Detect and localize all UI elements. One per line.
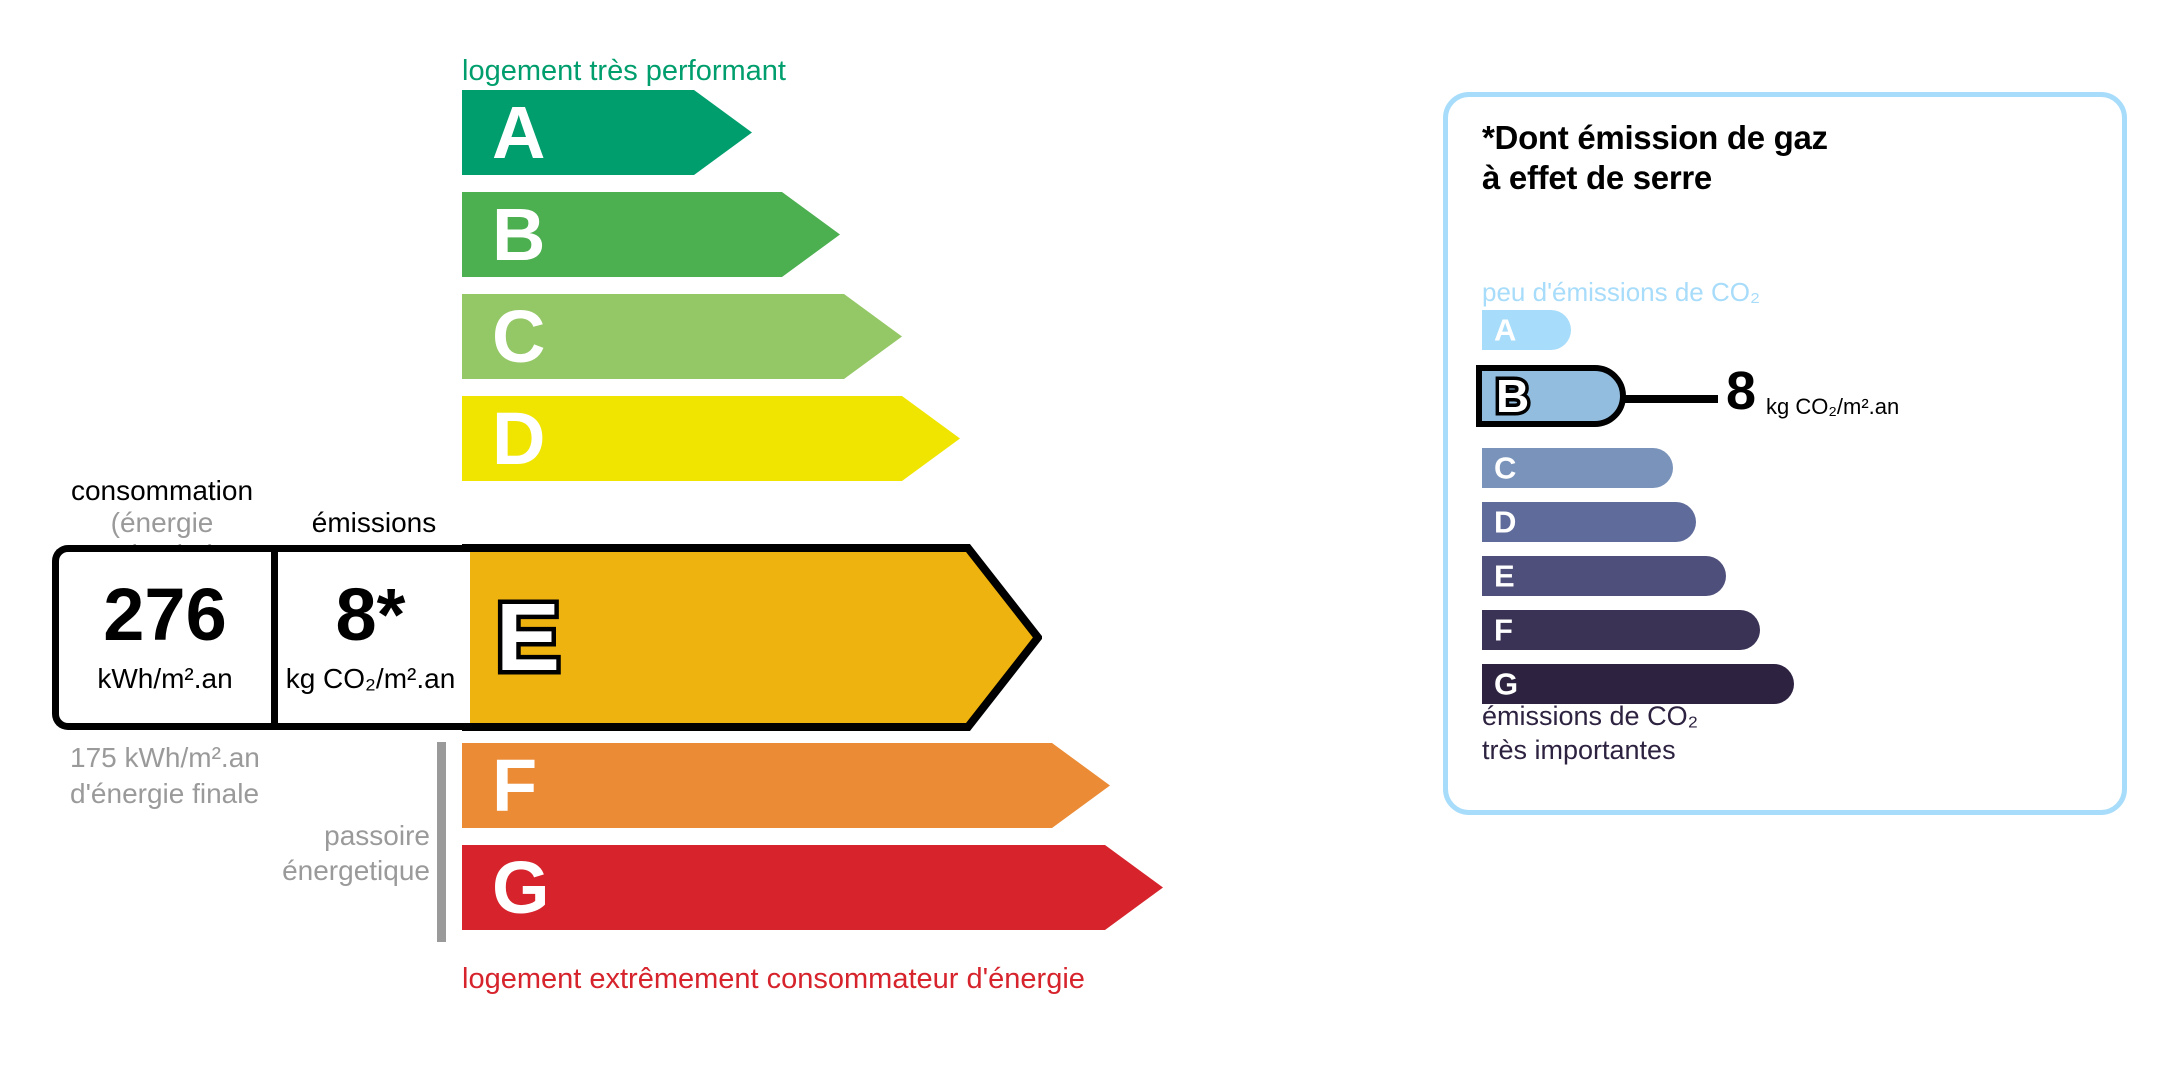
energy-class-row-G: G — [462, 845, 1163, 930]
emissions-value-cell: 8* kg CO₂/m².an — [271, 552, 470, 723]
energy-class-letter-D: D — [492, 402, 545, 476]
energy-class-arrow-D: D — [462, 396, 960, 481]
energy-class-arrow-G: G — [462, 845, 1163, 930]
co2-class-bar-A: A — [1482, 310, 1571, 350]
energy-class-arrow-B: B — [462, 192, 840, 277]
energy-class-arrow-A: A — [462, 90, 752, 175]
value-box: 276 kWh/m².an 8* kg CO₂/m².an — [52, 545, 470, 730]
co2-class-bar-D: D — [1482, 502, 1696, 542]
co2-class-bar-F: F — [1482, 610, 1760, 650]
energy-class-letter-B: B — [492, 198, 545, 272]
co2-class-letter-B: B — [1496, 373, 1529, 419]
energy-class-row-F: F — [462, 743, 1110, 828]
co2-value-unit: kg CO₂/m².an — [1766, 396, 1899, 418]
co2-class-letter-F: F — [1494, 615, 1513, 646]
consumption-value-cell: 276 kWh/m².an — [59, 552, 271, 723]
energy-class-arrow-C: C — [462, 294, 902, 379]
co2-bottom-caption: émissions de CO₂très importantes — [1482, 700, 1698, 768]
energy-class-row-E: E — [462, 544, 1042, 731]
co2-class-bar-B: B — [1476, 365, 1626, 427]
energy-class-letter-F: F — [492, 749, 537, 823]
energy-class-letter-E: E — [496, 590, 560, 686]
energy-performance-diagram: logement très performant ABCDFG E logeme… — [0, 0, 1340, 1079]
co2-top-caption: peu d'émissions de CO₂ — [1482, 277, 1760, 308]
energy-class-row-D: D — [462, 396, 960, 481]
co2-class-letter-E: E — [1494, 561, 1515, 592]
passoire-energetique-bar — [437, 742, 446, 942]
emissions-label: émissions — [278, 507, 470, 539]
energy-top-caption: logement très performant — [462, 55, 786, 88]
energy-bottom-caption: logement extrêmement consommateur d'éner… — [462, 963, 1085, 996]
energy-class-arrow-F: F — [462, 743, 1110, 828]
co2-class-letter-C: C — [1494, 453, 1516, 484]
emissions-value: 8* — [271, 578, 470, 652]
co2-value: 8 — [1726, 364, 1756, 418]
co2-class-bar-C: C — [1482, 448, 1673, 488]
energy-class-letter-A: A — [492, 96, 545, 170]
energy-class-row-C: C — [462, 294, 902, 379]
energy-class-row-A: A — [462, 90, 752, 175]
emissions-unit: kg CO₂/m².an — [271, 664, 470, 695]
consumption-unit: kWh/m².an — [59, 664, 271, 695]
final-energy-label: 175 kWh/m².and'énergie finale — [70, 740, 260, 813]
energy-class-letter-G: G — [492, 851, 550, 925]
co2-leader-line — [1621, 395, 1718, 403]
energy-class-row-B: B — [462, 192, 840, 277]
consumption-value: 276 — [59, 578, 271, 652]
consumption-label-text: consommation — [71, 475, 253, 506]
co2-class-bar-G: G — [1482, 664, 1794, 704]
energy-class-letter-C: C — [492, 300, 545, 374]
passoire-energetique-label: passoireénergetique — [230, 818, 430, 888]
co2-class-letter-G: G — [1494, 669, 1518, 700]
co2-class-letter-D: D — [1494, 507, 1516, 538]
value-box-divider — [271, 552, 278, 723]
co2-class-bar-E: E — [1482, 556, 1726, 596]
co2-panel-title: *Dont émission de gazà effet de serre — [1482, 118, 1828, 197]
co2-class-letter-A: A — [1494, 315, 1516, 346]
